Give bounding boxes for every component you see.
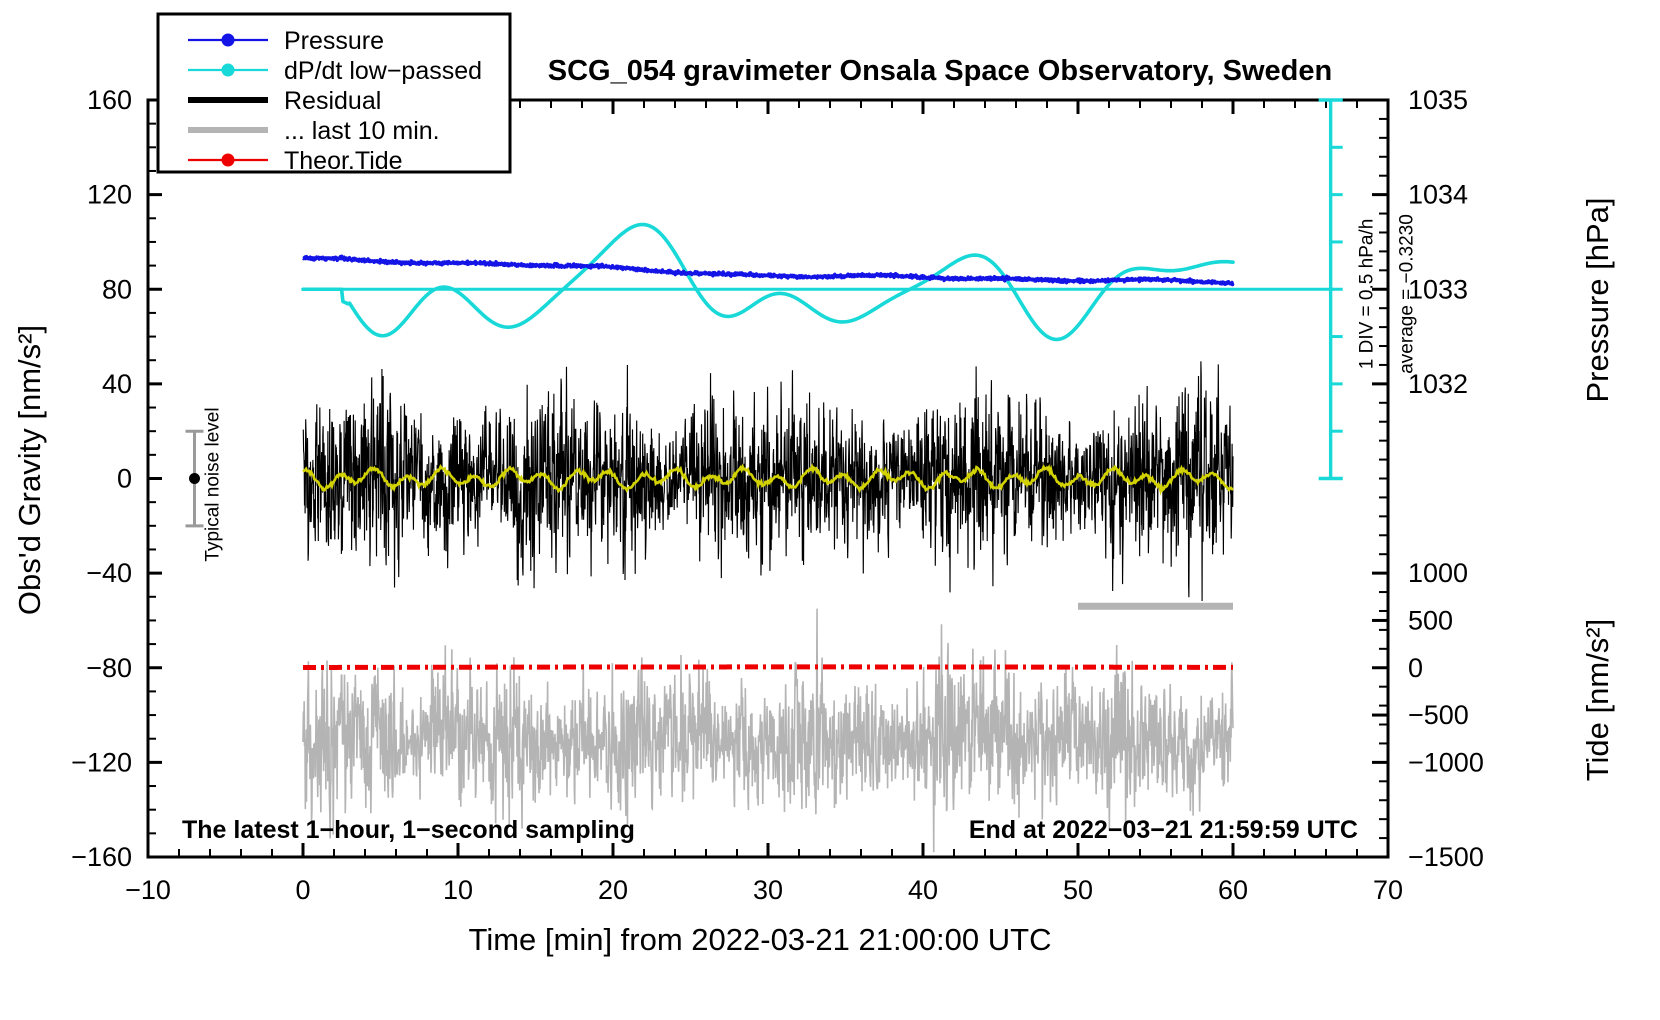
x-tick-label: 50 — [1063, 875, 1093, 905]
annotation-end-time: End at 2022−03−21 21:59:59 UTC — [969, 816, 1358, 844]
y-tick-label-tide: 500 — [1408, 605, 1453, 635]
scalebar-average-label: average = −0.3230 — [1397, 214, 1418, 374]
y-tick-label-tide: −500 — [1408, 700, 1469, 730]
y-tick-label-left: −40 — [86, 558, 132, 588]
y-tick-label-left: −160 — [71, 842, 132, 872]
legend-swatch-dot — [222, 154, 235, 167]
legend-item-label: ... last 10 min. — [284, 117, 440, 145]
y-axis-title-tide: Tide [nm/s²] — [1580, 619, 1615, 782]
y-axis-title-left: Obs'd Gravity [nm/s²] — [12, 325, 47, 615]
page-title: SCG_054 gravimeter Onsala Space Observat… — [548, 55, 1332, 87]
x-tick-label: 60 — [1218, 875, 1248, 905]
x-tick-label: 0 — [295, 875, 310, 905]
legend: PressuredP/dt low−passedResidual... last… — [158, 14, 510, 175]
legend-item-label: dP/dt low−passed — [284, 57, 482, 85]
y-tick-label-pressure: 1035 — [1408, 85, 1468, 115]
y-tick-label-left: 160 — [87, 85, 132, 115]
x-tick-label: 70 — [1373, 875, 1403, 905]
scalebar-division-label: 1 DIV = 0.5 hPa/h — [1357, 219, 1378, 370]
gravimeter-chart: −1001020304050607016012080400−40−80−120−… — [0, 0, 1660, 1020]
y-tick-label-left: −120 — [71, 747, 132, 777]
x-tick-label: 40 — [908, 875, 938, 905]
y-tick-label-left: 0 — [117, 464, 132, 494]
legend-item-label: Theor.Tide — [284, 147, 403, 175]
legend-item-label: Residual — [284, 87, 381, 115]
y-tick-label-tide: −1500 — [1408, 842, 1484, 872]
y-tick-label-tide: 1000 — [1408, 558, 1468, 588]
y-tick-label-pressure: 1034 — [1408, 180, 1468, 210]
x-tick-label: −10 — [125, 875, 171, 905]
annotation-sampling: The latest 1−hour, 1−second sampling — [182, 816, 635, 844]
legend-swatch-dot — [222, 64, 235, 77]
y-tick-label-left: 40 — [102, 369, 132, 399]
noise-center-dot — [189, 473, 200, 484]
legend-swatch-dot — [222, 34, 235, 47]
x-axis-title: Time [min] from 2022‑03‑21 21:00:00 UTC — [469, 922, 1052, 957]
x-tick-label: 20 — [598, 875, 628, 905]
y-tick-label-tide: 0 — [1408, 653, 1423, 683]
y-axis-title-pressure: Pressure [hPa] — [1580, 197, 1615, 402]
legend-item-label: Pressure — [284, 27, 384, 55]
noise-marker-label: Typical noise level — [203, 407, 224, 561]
y-tick-label-left: −80 — [86, 653, 132, 683]
y-tick-label-left: 120 — [87, 180, 132, 210]
y-tick-label-left: 80 — [102, 274, 132, 304]
x-tick-label: 10 — [443, 875, 473, 905]
y-tick-label-tide: −1000 — [1408, 747, 1484, 777]
chart-root: −1001020304050607016012080400−40−80−120−… — [0, 0, 1660, 1020]
x-tick-label: 30 — [753, 875, 783, 905]
